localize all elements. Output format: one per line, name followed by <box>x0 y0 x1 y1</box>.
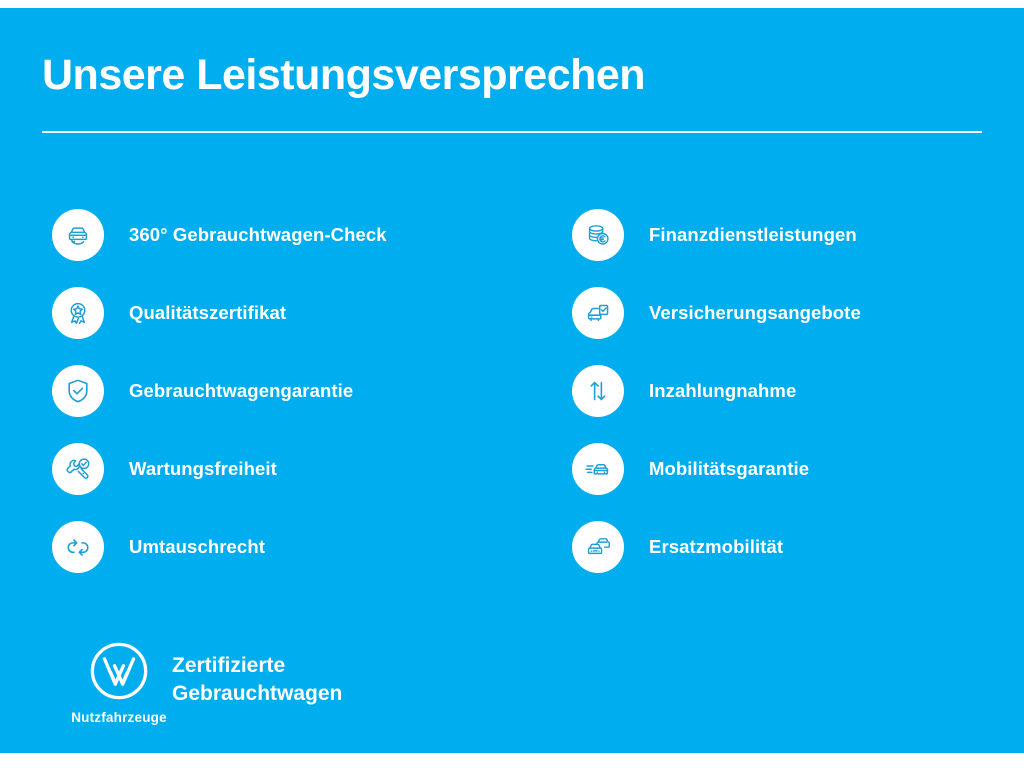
page-title: Unsere Leistungsversprechen <box>42 52 645 99</box>
car-360-check-icon <box>52 209 104 261</box>
car-document-check-icon <box>572 287 624 339</box>
feature-item-insurance-offers[interactable]: Versicherungsangebote <box>572 274 1024 352</box>
feature-item-360-check[interactable]: 360° Gebrauchtwagen-Check <box>52 196 522 274</box>
vw-logo <box>60 640 178 702</box>
coins-euro-icon <box>572 209 624 261</box>
feature-item-quality-certificate[interactable]: Qualitätszertifikat <box>52 274 522 352</box>
wrench-screwdriver-check-icon <box>52 443 104 495</box>
feature-label: Mobilitätsgarantie <box>649 458 809 480</box>
shield-check-icon <box>52 365 104 417</box>
feature-item-used-car-warranty[interactable]: Gebrauchtwagengarantie <box>52 352 522 430</box>
feature-label: Gebrauchtwagengarantie <box>129 380 353 402</box>
feature-columns: 360° Gebrauchtwagen-Check Qualitätszerti… <box>0 196 1024 586</box>
brand-claim-line-1: Zertifizierte <box>172 652 342 680</box>
exchange-arrows-icon <box>52 521 104 573</box>
feature-column-right: Finanzdienstleistungen Versicherungsange… <box>572 196 1024 586</box>
slide-root: Unsere Leistungsversprechen 360° Gebr <box>0 0 1024 768</box>
feature-column-left: 360° Gebrauchtwagen-Check Qualitätszerti… <box>52 196 522 586</box>
feature-label: Ersatzmobilität <box>649 536 783 558</box>
brand-claim: Zertifizierte Gebrauchtwagen <box>172 652 342 707</box>
award-rosette-icon <box>52 287 104 339</box>
arrows-up-down-icon <box>572 365 624 417</box>
feature-label: 360° Gebrauchtwagen-Check <box>129 224 387 246</box>
feature-label: Wartungsfreiheit <box>129 458 277 480</box>
feature-item-exchange-right[interactable]: Umtauschrecht <box>52 508 522 586</box>
brand-subtitle: Nutzfahrzeuge <box>60 710 178 725</box>
title-divider <box>42 131 982 133</box>
feature-label: Finanzdienstleistungen <box>649 224 857 246</box>
feature-item-mobility-guarantee[interactable]: Mobilitätsgarantie <box>572 430 1024 508</box>
feature-label: Versicherungsangebote <box>649 302 861 324</box>
feature-item-maintenance-free[interactable]: Wartungsfreiheit <box>52 430 522 508</box>
brand-claim-line-2: Gebrauchtwagen <box>172 680 342 708</box>
feature-label: Umtauschrecht <box>129 536 265 558</box>
car-speed-lines-icon <box>572 443 624 495</box>
feature-item-replacement-mobility[interactable]: Ersatzmobilität <box>572 508 1024 586</box>
brand-logo-wrap: Nutzfahrzeuge <box>60 640 178 725</box>
feature-item-financial-services[interactable]: Finanzdienstleistungen <box>572 196 1024 274</box>
two-cars-icon <box>572 521 624 573</box>
feature-label: Inzahlungnahme <box>649 380 796 402</box>
brand-block: Nutzfahrzeuge Zertifizierte Gebrauchtwag… <box>42 640 542 740</box>
feature-label: Qualitätszertifikat <box>129 302 286 324</box>
feature-item-trade-in[interactable]: Inzahlungnahme <box>572 352 1024 430</box>
